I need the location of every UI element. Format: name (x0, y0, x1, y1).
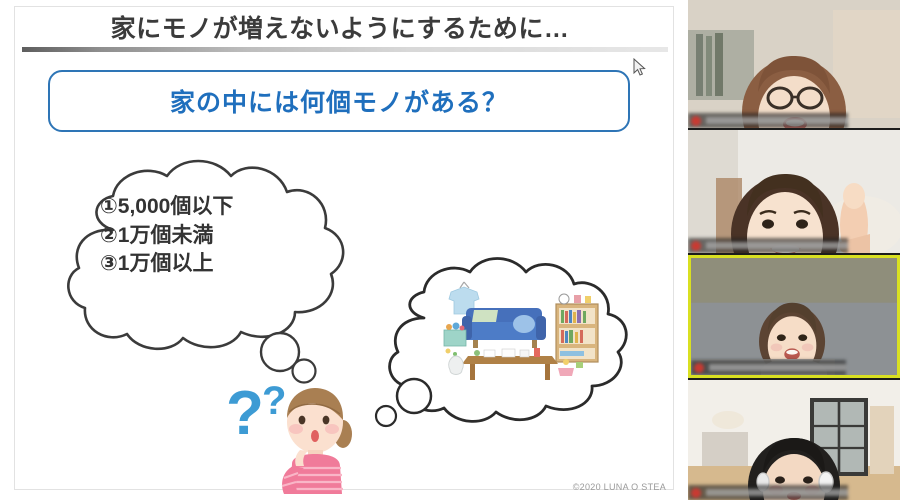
mic-muted-icon (691, 116, 701, 126)
coffee-table-icon (462, 348, 558, 380)
presentation-slide: 家にモノが増えないようにするために… 家の中には何個モノがある？ ①5,000個… (0, 0, 688, 500)
slide-title: 家にモノが増えないようにするために… (30, 8, 650, 46)
participant-name-redacted (709, 364, 846, 371)
blue-sofa-icon (462, 308, 546, 348)
participant-tile-1[interactable] (688, 0, 900, 128)
question-box: 家の中には何個モノがある？ (48, 70, 630, 132)
toy-box-icon (444, 323, 466, 357)
girl-figure (282, 388, 352, 494)
mouse-cursor-icon (633, 58, 647, 78)
question-text: 家の中には何個モノがある？ (170, 83, 508, 119)
svg-text:?: ? (262, 379, 286, 423)
participant-name-redacted (706, 117, 848, 124)
participant-tile-4[interactable] (688, 380, 900, 500)
mic-muted-icon (691, 488, 701, 498)
screen-share-view: 家にモノが増えないようにするために… 家の中には何個モノがある？ ①5,000個… (0, 0, 900, 500)
cluttered-room-illustration (440, 278, 608, 388)
participant-video-rail (688, 0, 900, 500)
participant-name-redacted (706, 489, 848, 496)
participant-portrait-1 (688, 0, 900, 128)
question-mark-large-icon: ? (226, 379, 264, 448)
mic-muted-icon (691, 241, 701, 251)
question-mark-small-icon: ? (262, 379, 286, 423)
thinking-girl-character: ? ? (218, 372, 368, 494)
participant-name-bar-1 (688, 113, 848, 128)
copyright-text: ©2020 LUNA O STEA (573, 482, 666, 492)
title-divider-rule (22, 47, 668, 52)
participant-name-bar-3 (691, 360, 846, 375)
bookshelf-icon (556, 294, 598, 362)
mic-muted-icon (694, 363, 704, 373)
participant-name-bar-2 (688, 238, 848, 253)
participant-tile-3[interactable] (688, 255, 900, 378)
participant-name-redacted (706, 242, 848, 249)
option-item-1: ①5,000個以下 (100, 193, 330, 222)
svg-text:?: ? (226, 379, 264, 448)
option-item-2: ②1万個未満 (100, 222, 330, 251)
option-item-3: ③1万個以上 (100, 250, 330, 279)
participant-portrait-2 (688, 130, 900, 253)
participant-name-bar-4 (688, 485, 848, 500)
participant-tile-2[interactable] (688, 130, 900, 253)
room-bubble-tail (370, 376, 438, 432)
participant-portrait-4 (688, 380, 900, 500)
trash-bag-icon (449, 356, 464, 375)
options-list: ①5,000個以下 ②1万個未満 ③1万個以上 (100, 193, 330, 279)
